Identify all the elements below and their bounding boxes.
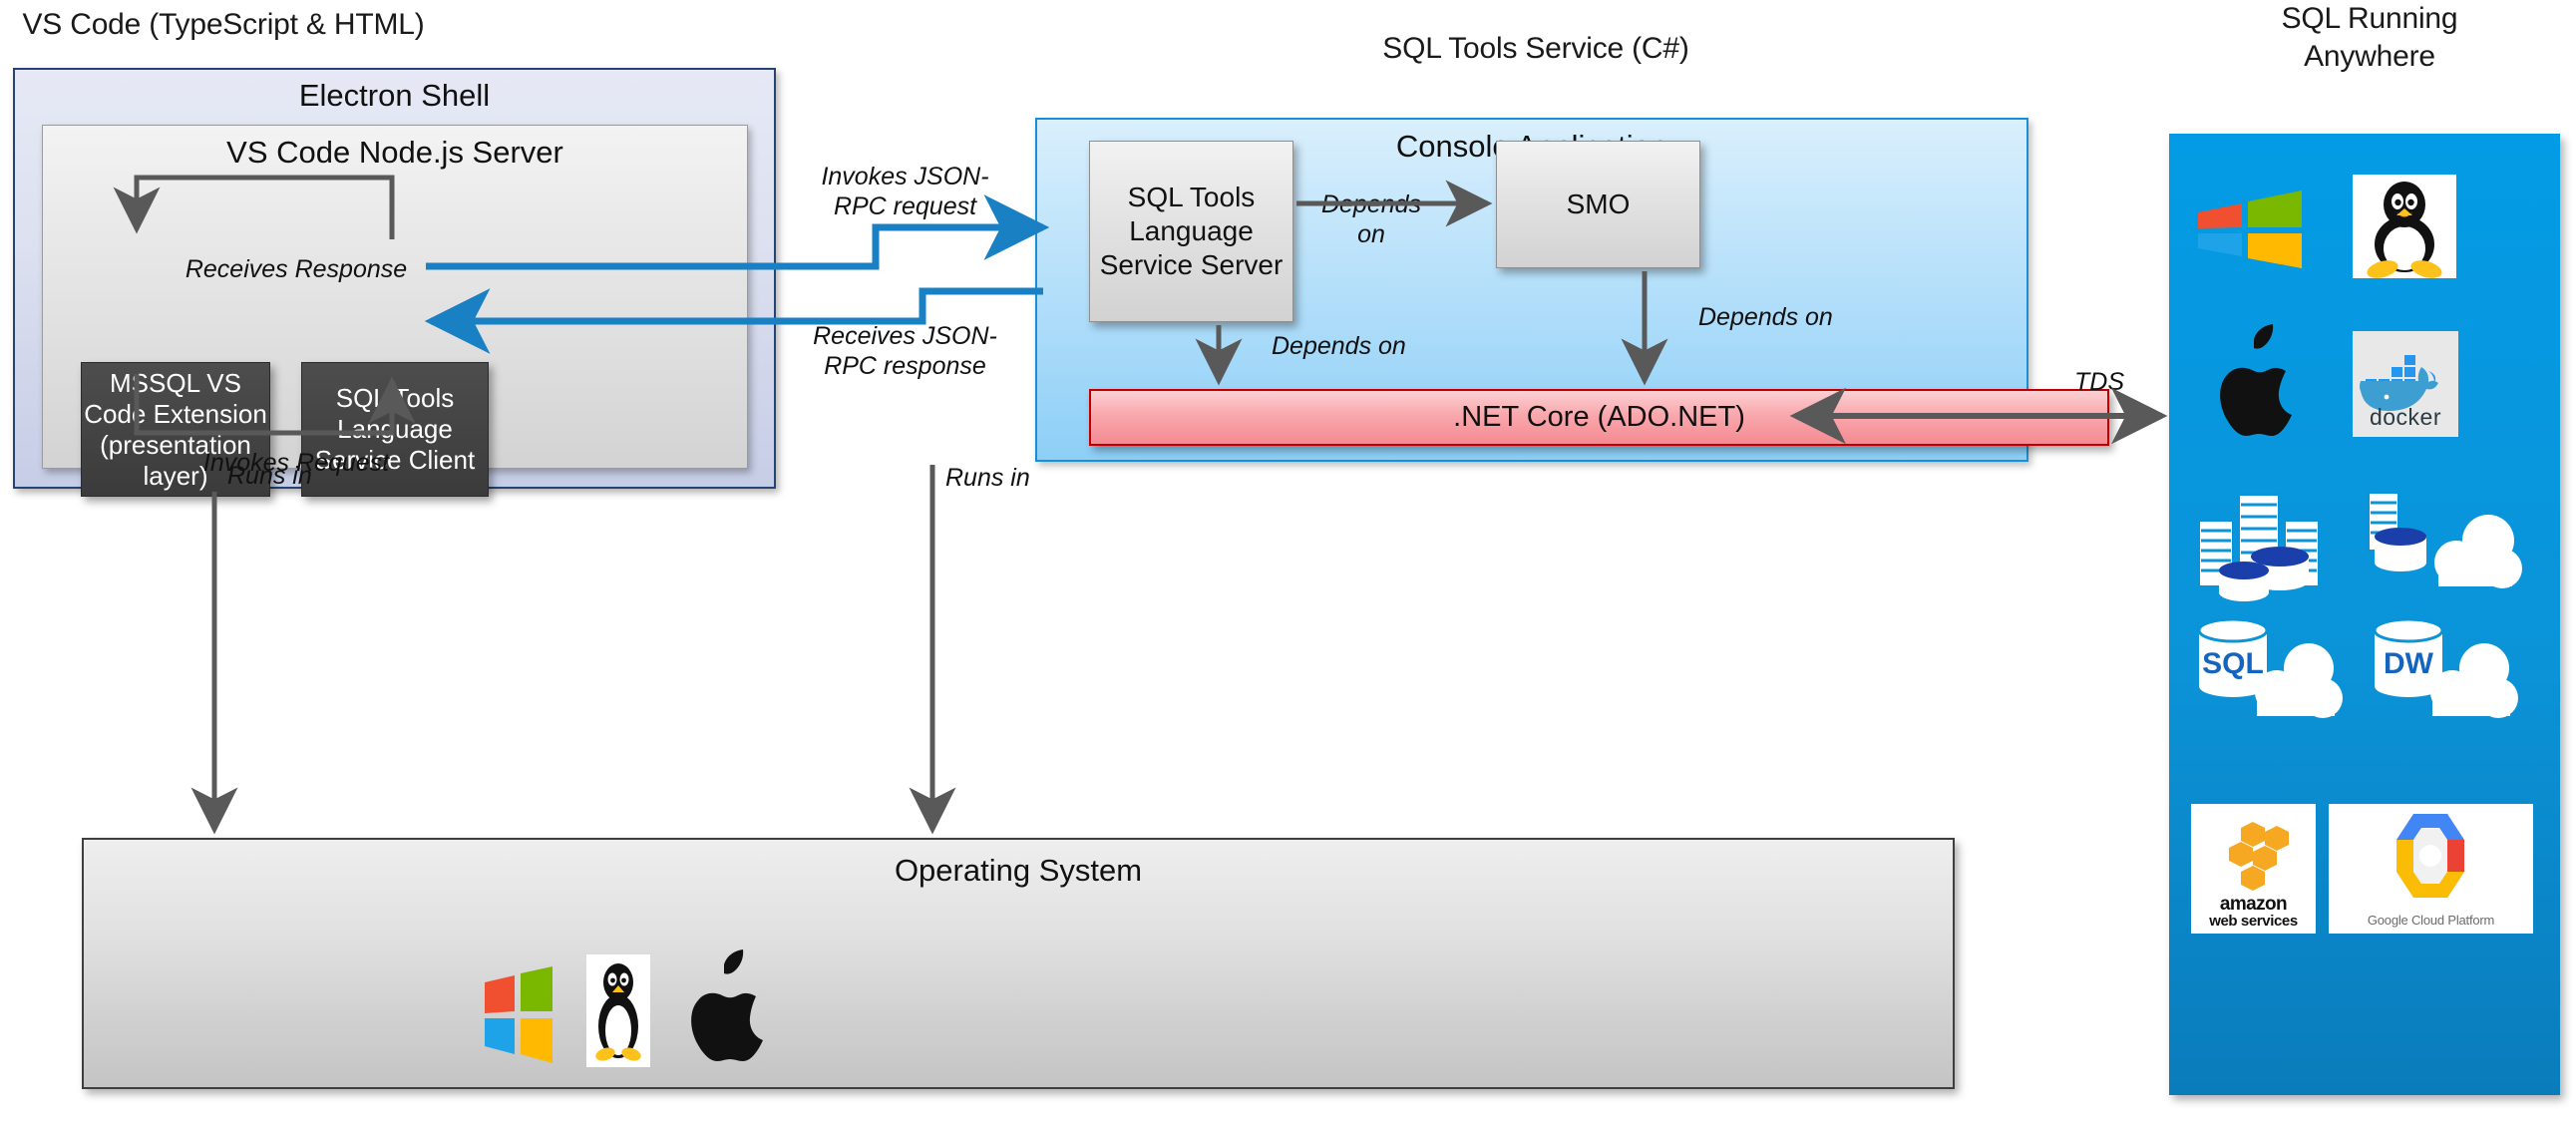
- windows-logo-icon: [2194, 189, 2306, 268]
- panel-electron-shell-title: Electron Shell: [15, 78, 774, 114]
- svg-text:SQL: SQL: [2202, 647, 2264, 680]
- sql-server-cloud-vm-icon: [2361, 485, 2524, 604]
- google-cloud-platform-logo-text: Google Cloud Platform: [2329, 913, 2533, 928]
- edge-label-tds: TDS: [2049, 367, 2149, 397]
- box-dotnet-core-ado-net-label: .NET Core (ADO.NET): [1453, 401, 1745, 434]
- edge-label-depends-on-ado-left: Depends on: [1272, 331, 1471, 361]
- os-linux-tux-icon: [586, 954, 650, 1067]
- box-smo-label: SMO: [1567, 188, 1631, 221]
- edge-label-invokes-json-rpc-request: Invokes JSON-RPC request: [798, 162, 1012, 221]
- caption-vs-code: VS Code (TypeScript & HTML): [14, 6, 433, 44]
- sql-server-on-premises-icon: [2189, 475, 2339, 602]
- amazon-web-services-logo-text: amazon web services: [2191, 896, 2316, 930]
- docker-logo-icon: docker: [2353, 331, 2458, 437]
- box-dotnet-core-ado-net[interactable]: .NET Core (ADO.NET): [1089, 389, 2109, 446]
- edge-label-runs-in-left: Runs in: [227, 461, 377, 491]
- panel-electron-shell[interactable]: Electron Shell VS Code Node.js Server MS…: [13, 68, 776, 489]
- box-smo[interactable]: SMO: [1496, 141, 1700, 268]
- google-cloud-platform-logo-icon: Google Cloud Platform: [2329, 804, 2533, 934]
- svg-text:DW: DW: [2384, 647, 2434, 680]
- edge-label-runs-in-right: Runs in: [945, 463, 1095, 493]
- edge-label-receives-response: Receives Response: [147, 254, 446, 284]
- panel-sql-running-anywhere[interactable]: docker: [2169, 134, 2560, 1095]
- caption-sql-tools-service: SQL Tools Service (C#): [1217, 30, 1855, 68]
- box-sql-tools-language-service-server[interactable]: SQL Tools Language Service Server: [1089, 141, 1293, 322]
- edge-label-depends-on-ado-right: Depends on: [1698, 302, 1898, 332]
- edge-label-depends-on-smo: Depends on: [1311, 189, 1431, 249]
- os-windows-logo-icon: [475, 964, 566, 1064]
- linux-tux-icon: [2353, 175, 2456, 278]
- panel-operating-system[interactable]: Operating System: [82, 838, 1955, 1089]
- panel-vscode-nodejs-server-title: VS Code Node.js Server: [43, 135, 747, 171]
- caption-sql-running-anywhere: SQL Running Anywhere: [2234, 0, 2505, 76]
- amazon-web-services-logo-icon: amazon web services: [2191, 804, 2316, 934]
- diagram-canvas: VS Code (TypeScript & HTML) SQL Tools Se…: [0, 0, 2576, 1134]
- docker-logo-text: docker: [2353, 404, 2458, 431]
- box-sql-tools-language-service-server-label: SQL Tools Language Service Server: [1090, 181, 1292, 282]
- azure-sql-database-icon: SQL: [2191, 618, 2351, 734]
- panel-operating-system-title: Operating System: [84, 853, 1953, 889]
- azure-sql-data-warehouse-icon: DW: [2367, 618, 2526, 734]
- edge-label-receives-json-rpc-response: Receives JSON-RPC response: [798, 321, 1012, 381]
- apple-logo-icon: [2194, 323, 2314, 443]
- panel-vscode-nodejs-server[interactable]: VS Code Node.js Server MSSQL VS Code Ext…: [42, 125, 748, 469]
- os-apple-logo-icon: [674, 949, 774, 1067]
